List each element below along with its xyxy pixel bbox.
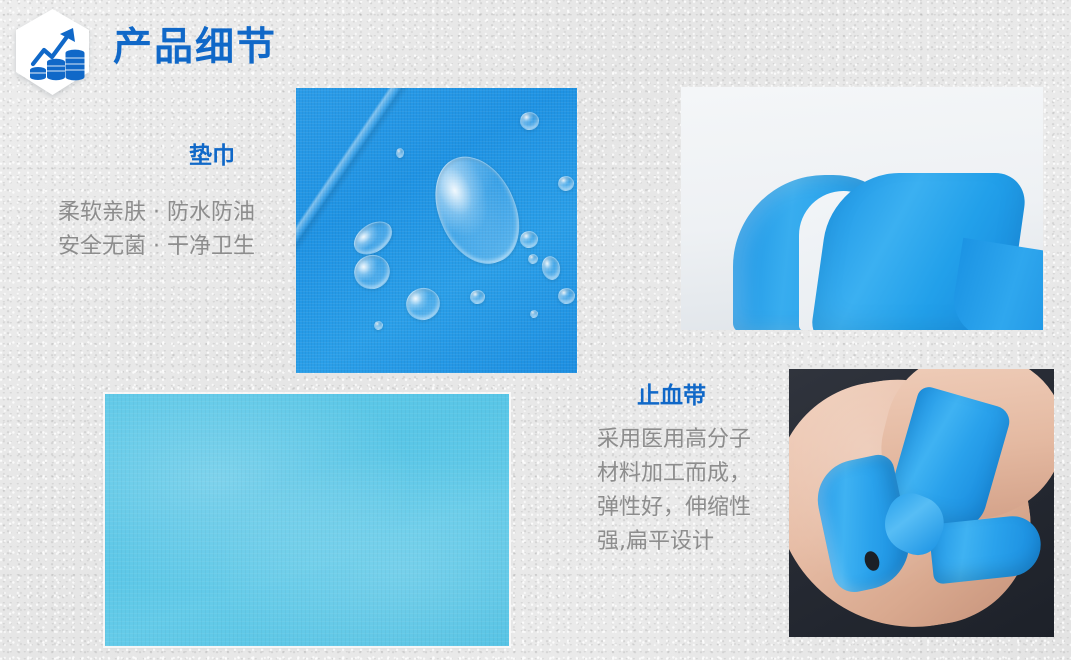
pad-sheet-photo xyxy=(105,394,509,646)
body-line: 弹性好，伸缩性 xyxy=(597,491,751,525)
body-line: 采用医用高分子 xyxy=(597,423,751,457)
body-line: 材料加工而成， xyxy=(597,457,751,491)
water-droplet xyxy=(396,148,404,158)
water-droplet xyxy=(528,254,538,264)
water-droplet xyxy=(520,231,538,248)
section-heading-pad-towel: 垫巾 xyxy=(189,143,235,171)
body-line: 强,扁平设计 xyxy=(597,525,751,559)
section-heading-tourniquet: 止血带 xyxy=(637,383,706,411)
section-body-tourniquet: 采用医用高分子 材料加工而成， 弹性好，伸缩性 强,扁平设计 xyxy=(597,423,751,559)
fabric-weave-texture xyxy=(296,88,577,373)
band-tail xyxy=(948,238,1043,330)
water-droplet xyxy=(374,321,383,330)
tourniquet-band-photo xyxy=(681,87,1043,330)
water-droplet xyxy=(470,290,485,304)
tourniquet-on-wrist-photo xyxy=(789,369,1054,637)
waterproof-fabric-photo xyxy=(296,88,577,373)
growth-chart-coins-icon xyxy=(11,6,94,98)
water-droplet xyxy=(558,176,574,191)
water-droplet xyxy=(530,310,538,318)
page-title: 产品细节 xyxy=(113,28,277,67)
body-line: 安全无菌 · 干净卫生 xyxy=(58,230,255,264)
section-body-pad-towel: 柔软亲肤 · 防水防油 安全无菌 · 干净卫生 xyxy=(58,196,255,264)
water-droplet xyxy=(520,112,539,130)
band-wrapped-right xyxy=(928,513,1044,584)
product-detail-page: 产品细节 垫巾 柔软亲肤 · 防水防油 安全无菌 · 干净卫生 止血带 采用医用… xyxy=(0,0,1071,660)
body-line: 柔软亲肤 · 防水防油 xyxy=(58,196,255,230)
water-droplet xyxy=(558,288,575,304)
